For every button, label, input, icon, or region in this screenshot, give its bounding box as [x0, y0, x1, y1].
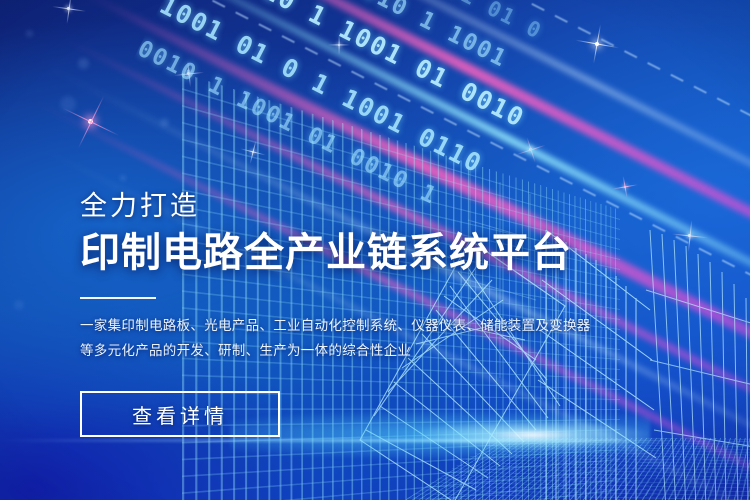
hero-banner: 1001 01 0010 1 1001 01 0 0 1001 01 0010 …: [0, 0, 750, 500]
description-block: 一家集印制电路板、光电产品、工业自动化控制系统、仪器仪表、储能装置及变换器 等多…: [80, 313, 591, 363]
view-details-button[interactable]: 查看详情: [80, 391, 280, 437]
page-title: 印制电路全产业链系统平台: [80, 231, 591, 276]
description-line: 等多元化产品的开发、研制、生产为一体的综合性企业: [80, 338, 591, 363]
hero-copy: 全力打造 印制电路全产业链系统平台 一家集印制电路板、光电产品、工业自动化控制系…: [80, 192, 591, 437]
title-divider: [80, 297, 156, 299]
eyebrow-text: 全力打造: [80, 192, 591, 222]
description-line: 一家集印制电路板、光电产品、工业自动化控制系统、仪器仪表、储能装置及变换器: [80, 313, 591, 338]
